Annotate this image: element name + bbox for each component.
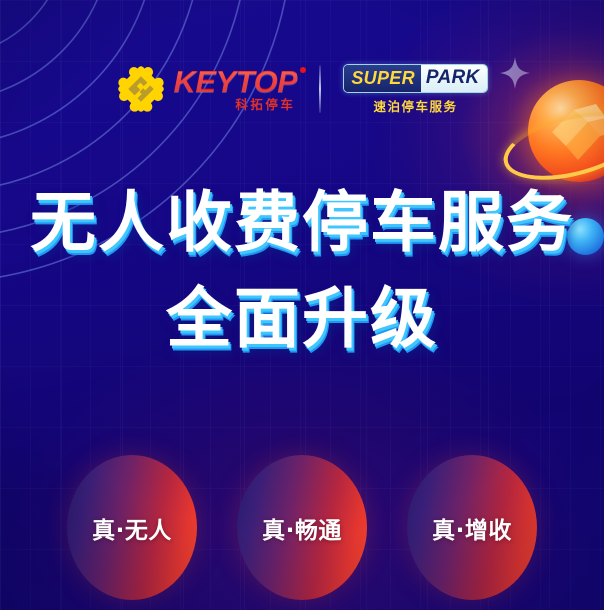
promo-poster: KEYTOP 科拓停车 SUPER PARK 速泊停车服务 无人收费停车服务 全… [0, 0, 604, 610]
feature-circle-row: 真·无人 真·畅通 真·增收 [0, 455, 604, 610]
superpark-word-right: PARK [421, 65, 487, 92]
headline-block: 无人收费停车服务 全面升级 [0, 188, 604, 354]
feature-smooth[interactable]: 真·畅通 [237, 455, 367, 600]
keytop-logo[interactable]: KEYTOP 科拓停车 [116, 64, 297, 114]
feature-label: 真·无人 [92, 511, 172, 545]
logo-bar: KEYTOP 科拓停车 SUPER PARK 速泊停车服务 [0, 55, 604, 123]
feature-label: 真·增收 [432, 511, 512, 545]
registered-mark-icon [300, 67, 306, 73]
keytop-subtitle: 科拓停车 [235, 99, 297, 112]
superpark-word-left: SUPER [344, 65, 421, 92]
headline-line-1: 无人收费停车服务 [0, 188, 604, 258]
vertical-divider-icon [319, 65, 321, 113]
feature-revenue[interactable]: 真·增收 [407, 455, 537, 600]
headline-line-2: 全面升级 [0, 284, 604, 354]
feature-label: 真·畅通 [262, 511, 342, 545]
superpark-badge: SUPER PARK [343, 64, 487, 93]
feature-unmanned[interactable]: 真·无人 [67, 455, 197, 600]
keytop-wordmark: KEYTOP [173, 66, 297, 97]
puzzle-diamond-icon [116, 64, 166, 114]
superpark-subtitle: 速泊停车服务 [373, 96, 457, 115]
superpark-logo[interactable]: SUPER PARK 速泊停车服务 [343, 64, 487, 115]
